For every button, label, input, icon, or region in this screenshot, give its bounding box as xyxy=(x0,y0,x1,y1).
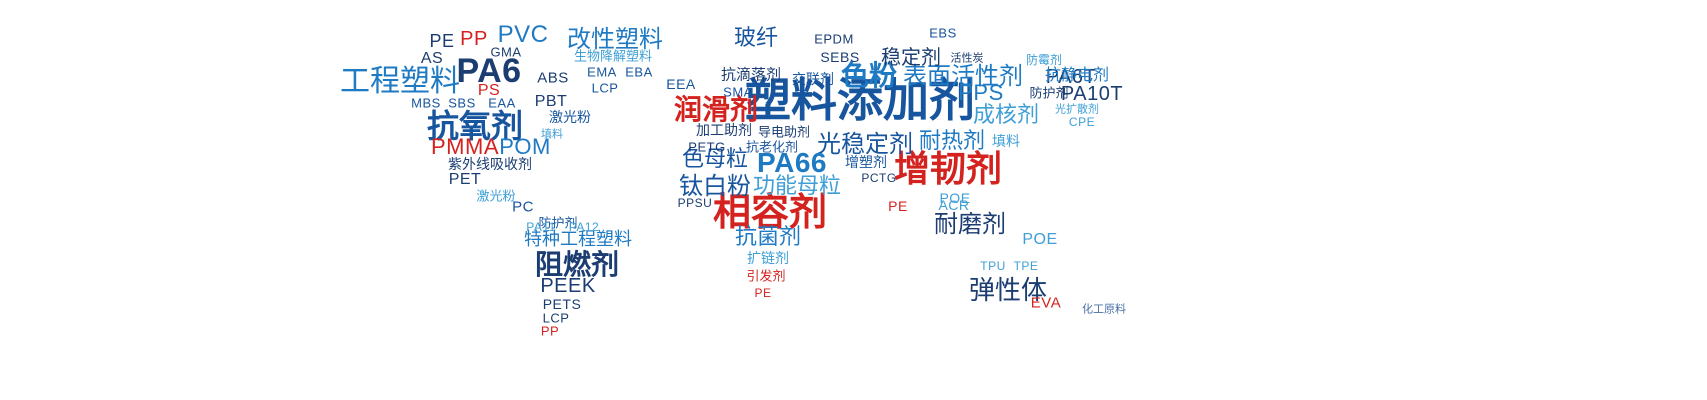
wordcloud-word[interactable]: SMA xyxy=(723,86,753,99)
wordcloud-word[interactable]: 活性炭 xyxy=(951,53,984,64)
wordcloud-word[interactable]: EAA xyxy=(488,97,516,110)
wordcloud-word[interactable]: PP xyxy=(541,325,559,338)
wordcloud-word[interactable]: TPU xyxy=(980,260,1006,272)
wordcloud-word[interactable]: 引发剂 xyxy=(746,271,785,284)
wordcloud-word[interactable]: PC xyxy=(512,200,534,215)
wordcloud-word[interactable]: ACR xyxy=(938,198,969,212)
wordcloud-word[interactable]: CPE xyxy=(1069,116,1095,128)
wordcloud-word[interactable]: PE xyxy=(429,32,454,50)
wordcloud-word[interactable]: PVC xyxy=(498,23,549,47)
wordcloud-word[interactable]: 稳定剂 xyxy=(881,47,941,67)
wordcloud-word[interactable]: EBS xyxy=(929,27,957,40)
wordcloud-word[interactable]: 填料 xyxy=(541,129,563,140)
wordcloud-word[interactable]: 功能母粒 xyxy=(753,176,841,198)
wordcloud-word[interactable]: 增塑剂 xyxy=(845,156,887,170)
wordcloud-word[interactable]: 防霉剂 xyxy=(1026,54,1062,66)
wordcloud-word[interactable]: PP xyxy=(460,29,488,49)
wordcloud-word[interactable]: MBS xyxy=(411,97,441,110)
wordcloud-word[interactable]: 光扩散剂 xyxy=(1055,104,1099,115)
wordcloud-word[interactable]: EEA xyxy=(666,77,696,91)
wordcloud-word[interactable]: PE xyxy=(888,199,908,213)
wordcloud-word[interactable]: PMMA xyxy=(431,136,499,158)
wordcloud-word[interactable]: 扩链剂 xyxy=(747,252,789,266)
wordcloud-word[interactable]: PA10T xyxy=(1061,84,1123,104)
wordcloud-word[interactable]: 导电助剂 xyxy=(758,127,810,140)
wordcloud-word[interactable]: 抗老化剂 xyxy=(746,142,798,155)
wordcloud-word[interactable]: 玻纤 xyxy=(734,28,778,50)
wordcloud-word[interactable]: 抗滴落剂 xyxy=(721,68,781,83)
wordcloud-word[interactable]: PETG xyxy=(688,141,725,154)
wordcloud-word[interactable]: ABS xyxy=(537,71,569,86)
wordcloud-word[interactable]: PA12 xyxy=(569,221,599,233)
wordcloud-word[interactable]: 激光粉 xyxy=(549,111,591,125)
wordcloud-word[interactable]: TPE xyxy=(1014,260,1039,272)
wordcloud-canvas: 塑料添加剂相容剂增韧剂工程塑料抗氧剂润滑剂PA6阻燃剂色粉表面活性剂光稳定剂PA… xyxy=(0,0,1707,400)
wordcloud-word[interactable]: 成核剂 xyxy=(973,105,1039,127)
wordcloud-word[interactable]: 防护剂 xyxy=(1029,88,1068,101)
wordcloud-word[interactable]: 紫外线吸收剂 xyxy=(448,158,532,172)
wordcloud-word[interactable]: 抗菌剂 xyxy=(735,227,801,249)
wordcloud-word[interactable]: 化工原料 xyxy=(1082,304,1126,315)
wordcloud-word[interactable]: PCTG xyxy=(861,172,896,184)
wordcloud-word[interactable]: 加工助剂 xyxy=(696,124,752,138)
wordcloud-word[interactable]: PET xyxy=(449,172,482,188)
wordcloud-word[interactable]: PPS xyxy=(958,82,1004,104)
wordcloud-word[interactable]: EMA xyxy=(587,66,617,79)
wordcloud-word[interactable]: PETS xyxy=(543,297,582,311)
wordcloud-word[interactable]: 抗静电剂 xyxy=(1045,67,1109,83)
wordcloud-word[interactable]: 交联剂 xyxy=(792,73,834,87)
wordcloud-word[interactable]: AS xyxy=(421,51,443,67)
wordcloud-word[interactable]: EBA xyxy=(625,66,653,79)
wordcloud-word[interactable]: 耐磨剂 xyxy=(934,212,1006,236)
wordcloud-word[interactable]: PBT xyxy=(535,94,568,110)
wordcloud-word[interactable]: EVA xyxy=(1031,296,1061,311)
wordcloud-word[interactable]: 填料 xyxy=(992,135,1020,149)
wordcloud-word[interactable]: 改性塑料 xyxy=(567,27,663,51)
wordcloud-word[interactable]: 钛白粉 xyxy=(679,174,751,198)
wordcloud-word[interactable]: 生物降解塑料 xyxy=(574,51,652,64)
wordcloud-word[interactable]: 光稳定剂 xyxy=(817,132,913,156)
wordcloud-word[interactable]: PE xyxy=(754,287,771,299)
wordcloud-word[interactable]: 润滑剂 xyxy=(674,96,758,124)
wordcloud-word[interactable]: POE xyxy=(1022,232,1057,248)
wordcloud-word[interactable]: SBS xyxy=(448,97,476,110)
wordcloud-word[interactable]: 激光粉 xyxy=(476,191,515,204)
wordcloud-word[interactable]: GMA xyxy=(490,46,521,59)
wordcloud-word[interactable]: 工程塑料 xyxy=(340,67,460,97)
wordcloud-word[interactable]: PEEK xyxy=(540,276,595,296)
wordcloud-word[interactable]: LCP xyxy=(592,82,619,95)
wordcloud-word[interactable]: EPDM xyxy=(814,33,854,46)
wordcloud-word[interactable]: SEBS xyxy=(820,50,859,64)
wordcloud-word[interactable]: PA11 xyxy=(526,221,556,233)
wordcloud-word[interactable]: 耐热剂 xyxy=(919,131,985,153)
wordcloud-word[interactable]: PPSU xyxy=(678,197,713,209)
